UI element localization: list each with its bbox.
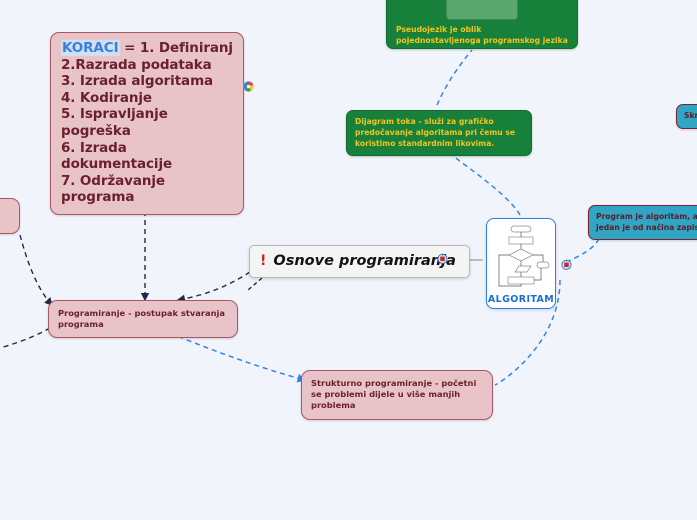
koraci-line-1: 2.Razrada podataka — [61, 57, 234, 74]
node-dijagram-toka[interactable]: Dijagram toka - služi za grafičko predoč… — [346, 110, 532, 156]
node-skriveni-desni[interactable]: Skr pro rec — [676, 104, 697, 129]
note-marker-center[interactable] — [437, 253, 448, 264]
skriveni-desni-text: Skr pro rec — [684, 111, 697, 122]
koraci-line-3: 4. Kodiranje — [61, 90, 234, 107]
koraci-line-5: 6. Izrada dokumentacije — [61, 140, 234, 173]
koraci-keyword: KORACI — [61, 40, 120, 56]
koraci-line-0: KORACI = 1. Definiranj — [61, 40, 234, 57]
flowchart-image — [491, 224, 551, 292]
pseudojezik-image[interactable] — [446, 0, 518, 20]
edge-dijagramtoka-pseudojezik — [437, 50, 472, 105]
mindmap-canvas[interactable]: KORACI = 1. Definiranj 2.Razrada podatak… — [0, 0, 697, 520]
edge-center-lower — [248, 278, 262, 290]
algoritam-caption: ALGORITAM — [488, 294, 554, 305]
node-program-algoritam[interactable]: Program je algoritam, a p jedan je od na… — [588, 205, 697, 240]
koraci-line-4: 5. Ispravljanje pogreška — [61, 106, 234, 139]
center-title: Osnove programiranja — [273, 253, 455, 269]
edge-center-programiranje — [178, 272, 250, 300]
node-strukturno-programiranje[interactable]: Strukturno programiranje - početni se pr… — [301, 370, 493, 420]
node-pseudojezik[interactable]: Pseudojezik je oblik pojednostavljenoga … — [386, 0, 578, 49]
koraci-line-6: 7. Održavanje programa — [61, 173, 234, 206]
edge-programiranje-offleft — [0, 328, 50, 348]
edge-programiranje-strukturno — [170, 333, 305, 380]
node-prazni-lijevi[interactable] — [0, 198, 20, 234]
pseudojezik-text: Pseudojezik je oblik pojednostavljenoga … — [393, 25, 571, 47]
node-programiranje[interactable]: Programiranje - postupak stvaranja progr… — [48, 300, 238, 338]
programiranje-text: Programiranje - postupak stvaranja progr… — [58, 308, 228, 330]
dijagram-toka-text: Dijagram toka - služi za grafičko predoč… — [355, 117, 523, 149]
node-koraci[interactable]: KORACI = 1. Definiranj 2.Razrada podatak… — [50, 32, 244, 215]
color-wheel-marker[interactable] — [243, 81, 254, 92]
strukturno-text: Strukturno programiranje - početni se pr… — [311, 378, 483, 412]
node-algoritam[interactable]: ALGORITAM — [486, 218, 556, 309]
edge-leftnode-programiranje — [20, 235, 52, 305]
koraci-line-2: 3. Izrada algoritama — [61, 73, 234, 90]
alert-icon: ! — [260, 254, 266, 268]
program-algoritam-text: Program je algoritam, a p jedan je od na… — [596, 212, 697, 233]
note-marker-algoritam[interactable] — [561, 259, 572, 270]
